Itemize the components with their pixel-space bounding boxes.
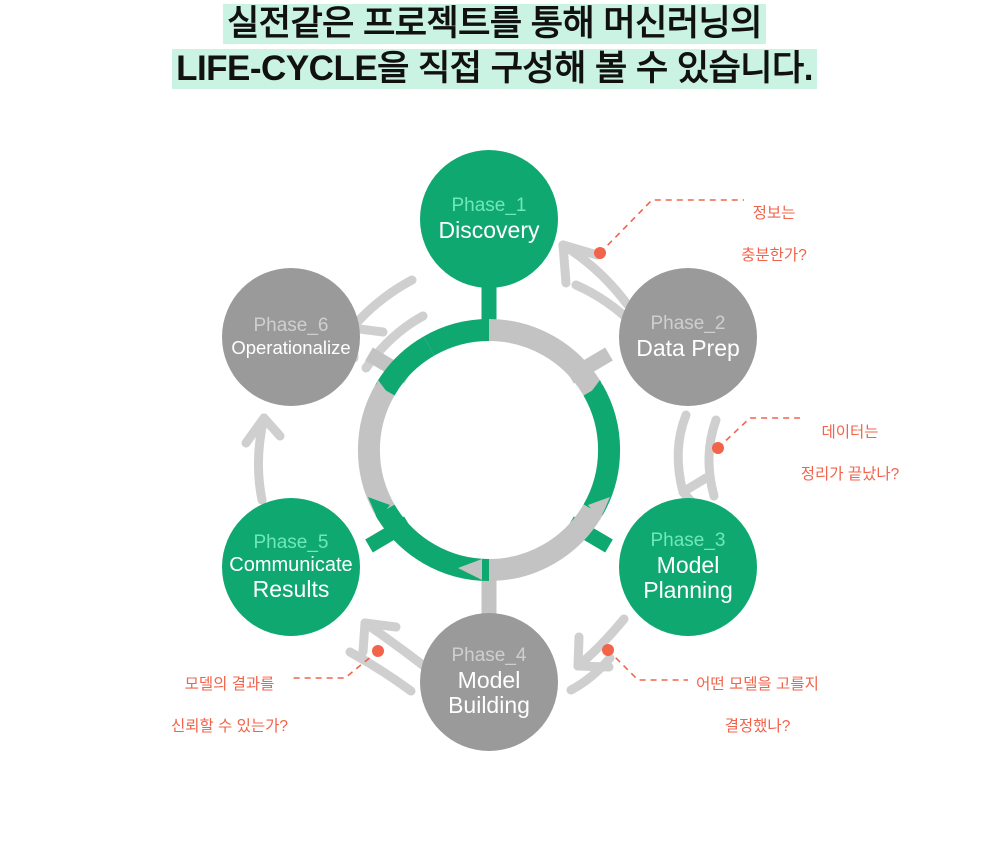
callout-label-model-building-line-1: 모델의 결과를 bbox=[152, 675, 307, 696]
ring-arc-3-to-4 bbox=[489, 510, 593, 570]
lifecycle-ring bbox=[369, 330, 609, 570]
ring-arc-6-to-1 bbox=[429, 330, 489, 346]
phase-node-5-title-line-1: Communicate bbox=[229, 554, 352, 576]
callout-dot-model-planning bbox=[602, 644, 614, 656]
ring-arc-4-to-5 bbox=[385, 510, 489, 570]
ring-arc-2-to-3 bbox=[593, 390, 609, 510]
phase-node-5-title: Communicate Results bbox=[229, 554, 352, 602]
flow-arrow-5-6 bbox=[246, 418, 280, 500]
callout-dot-data-prep bbox=[712, 442, 724, 454]
callout-dot-discovery bbox=[594, 247, 606, 259]
phase-node-2-key: Phase_2 bbox=[650, 313, 725, 335]
ring-arc-1-to-2 bbox=[489, 330, 593, 390]
callout-label-data-prep-line-2: 정리가 끝났나? bbox=[775, 465, 925, 486]
callout-line-model-planning bbox=[608, 650, 688, 680]
phase-node-4[interactable]: Phase_4 Model Building bbox=[420, 613, 558, 751]
callout-label-model-building-line-2: 신뢰할 수 있는가? bbox=[152, 717, 307, 738]
callout-label-model-planning-line-1: 어떤 모델을 고를지 bbox=[680, 675, 835, 696]
phase-node-5[interactable]: Phase_5 Communicate Results bbox=[222, 498, 360, 636]
phase-node-6-title: Operationalize bbox=[231, 338, 350, 359]
phase-node-6[interactable]: Phase_6 Operationalize bbox=[222, 268, 360, 406]
phase-node-5-key: Phase_5 bbox=[253, 532, 328, 554]
phase-node-4-key: Phase_4 bbox=[451, 645, 526, 667]
ring-spokes-group bbox=[369, 285, 609, 615]
phase-node-1[interactable]: Phase_1 Discovery bbox=[420, 150, 558, 288]
phase-node-2[interactable]: Phase_2 Data Prep bbox=[619, 268, 757, 406]
callout-label-data-prep-line-1: 데이터는 bbox=[775, 423, 925, 444]
phase-node-4-title: Model Building bbox=[448, 668, 530, 720]
callout-label-model-planning-line-2: 결정했나? bbox=[680, 717, 835, 738]
phase-node-3-key: Phase_3 bbox=[650, 530, 725, 552]
phase-node-5-title-line-2: Results bbox=[253, 577, 330, 603]
phase-node-6-key: Phase_6 bbox=[253, 315, 328, 337]
phase-node-1-key: Phase_1 bbox=[451, 195, 526, 217]
callout-label-data-prep: 데이터는 정리가 끝났나? bbox=[775, 402, 925, 507]
flow-arrow-2-3 bbox=[678, 415, 716, 508]
callout-label-discovery-line-1: 정보는 bbox=[714, 204, 834, 225]
lifecycle-diagram: Phase_1 Discovery Phase_2 Data Prep Phas… bbox=[0, 0, 989, 859]
phase-node-3-title: Model Planning bbox=[643, 553, 733, 605]
callout-label-model-building: 모델의 결과를 신뢰할 수 있는가? bbox=[152, 654, 307, 759]
flow-arrow-3-4 bbox=[571, 619, 624, 690]
ring-arc-6-wedge bbox=[385, 346, 429, 390]
phase-node-1-title: Discovery bbox=[439, 218, 540, 244]
callout-dot-model-building bbox=[372, 645, 384, 657]
ring-arc-5-to-6 bbox=[369, 390, 385, 510]
callout-label-discovery-line-2: 충분한가? bbox=[714, 246, 834, 267]
phase-node-2-title: Data Prep bbox=[636, 336, 740, 362]
phase-node-3[interactable]: Phase_3 Model Planning bbox=[619, 498, 757, 636]
callout-label-discovery: 정보는 충분한가? bbox=[714, 183, 834, 288]
flow-arrow-4-5 bbox=[350, 623, 424, 691]
callout-label-model-planning: 어떤 모델을 고를지 결정했나? bbox=[680, 654, 835, 759]
